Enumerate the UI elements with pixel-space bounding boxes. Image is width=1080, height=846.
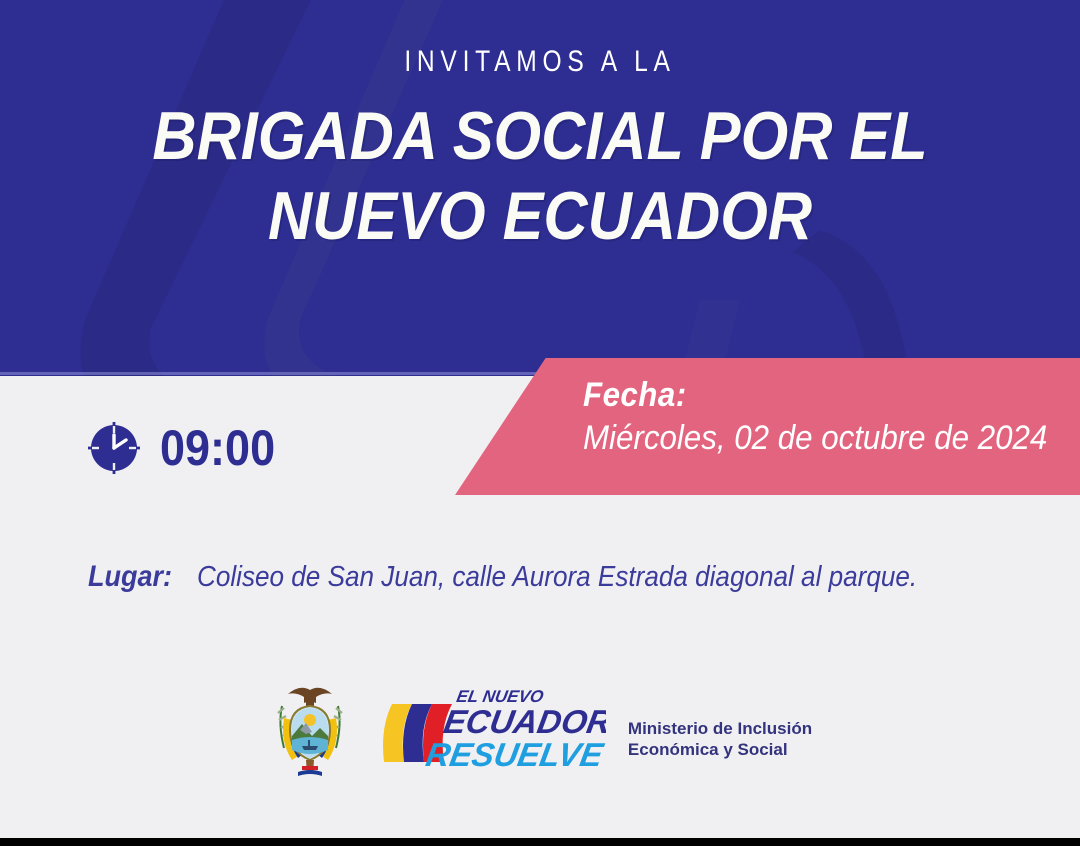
date-value: Miércoles, 02 de octubre de 2024 (583, 419, 1040, 458)
footer-logos: EL NUEVO ECUADOR RESUELVE Ministerio de … (0, 676, 1080, 780)
clock-icon (86, 420, 142, 476)
brand-middle-text: ECUADOR (441, 704, 606, 741)
bottom-black-bar (0, 838, 1080, 846)
brand-top-text: EL NUEVO (455, 686, 546, 706)
date-label: Fecha: (583, 376, 1040, 415)
title-line-2: NUEVO ECUADOR (54, 176, 1026, 256)
ecuador-coat-of-arms-icon (268, 676, 352, 780)
event-invitation-poster: INVITAMOS A LA BRIGADA SOCIAL POR EL NUE… (0, 0, 1080, 846)
date-banner: Fecha: Miércoles, 02 de octubre de 2024 (455, 358, 1080, 495)
time-row: 09:00 (86, 420, 288, 476)
el-nuevo-ecuador-resuelve-logo: EL NUEVO ECUADOR RESUELVE (374, 678, 606, 778)
brand-bottom-text: RESUELVE (423, 737, 606, 774)
ministry-line-2: Económica y Social (628, 739, 812, 760)
kicker-text: INVITAMOS A LA (97, 45, 983, 79)
ministry-name: Ministerio de Inclusión Económica y Soci… (628, 718, 812, 760)
hero-section: INVITAMOS A LA BRIGADA SOCIAL POR EL NUE… (0, 0, 1080, 376)
time-value: 09:00 (160, 423, 275, 473)
venue-row: Lugar: Coliseo de San Juan, calle Aurora… (88, 560, 998, 594)
venue-label: Lugar: (88, 560, 172, 594)
page-title: BRIGADA SOCIAL POR EL NUEVO ECUADOR (54, 96, 1026, 256)
title-line-1: BRIGADA SOCIAL POR EL (54, 96, 1026, 176)
ministry-line-1: Ministerio de Inclusión (628, 718, 812, 739)
venue-value: Coliseo de San Juan, calle Aurora Estrad… (197, 561, 917, 594)
